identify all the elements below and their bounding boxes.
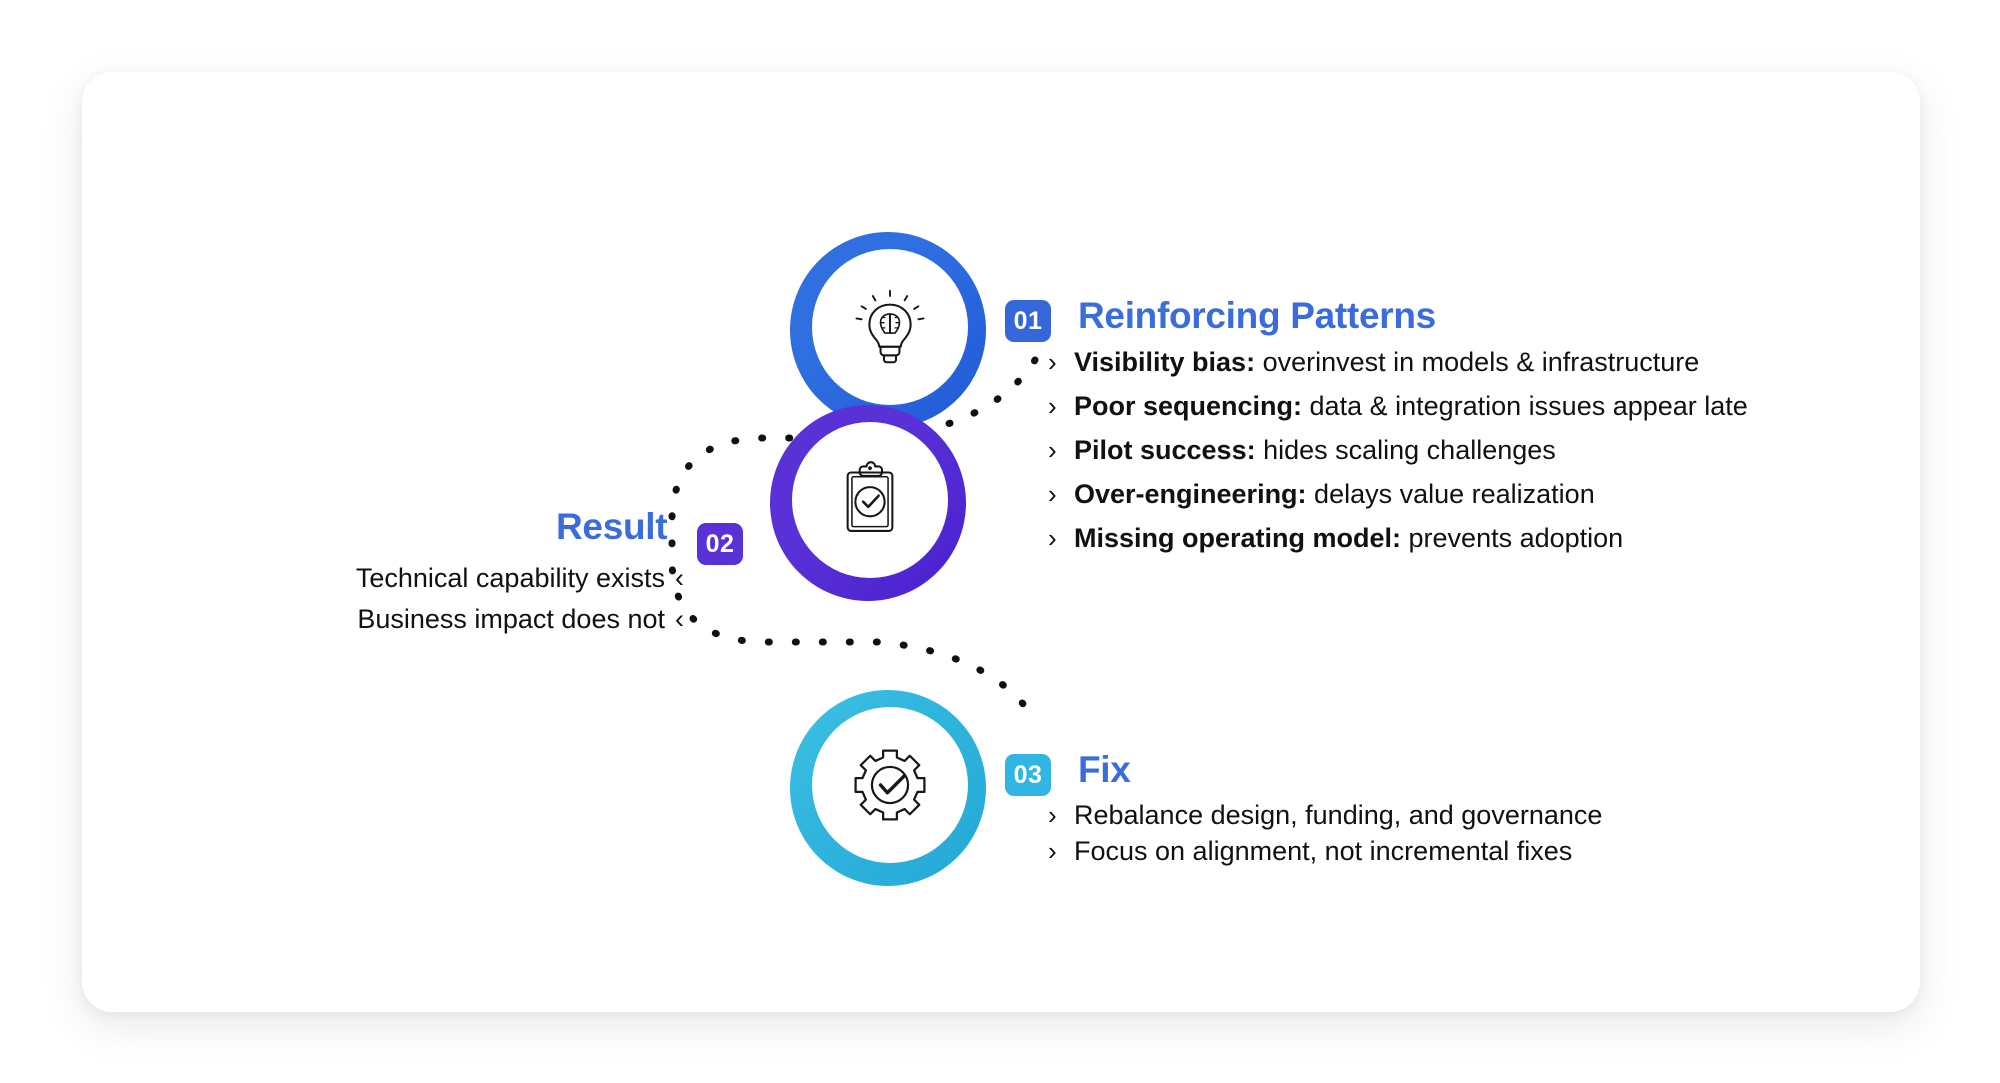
list-item: › Visibility bias: overinvest in models … (1048, 345, 1748, 379)
result-text: Business impact does not (357, 604, 665, 634)
bullet-text: data & integration issues appear late (1302, 391, 1748, 421)
badge-03: 03 (1005, 754, 1051, 796)
chevron-right-icon: › (1048, 521, 1057, 555)
bullet-text: prevents adoption (1401, 523, 1623, 553)
badge-02: 02 (697, 523, 743, 565)
chevron-left-icon: ‹ (675, 604, 684, 634)
chevron-left-icon: ‹ (675, 563, 684, 593)
gear-check-icon (812, 707, 968, 863)
result-text: Technical capability exists (356, 563, 665, 593)
heading-reinforcing-patterns: Reinforcing Patterns (1078, 295, 1436, 337)
bullet-label: Poor sequencing: (1074, 391, 1302, 421)
lightbulb-brain-icon (812, 249, 968, 405)
slide-canvas: 01 Reinforcing Patterns › Visibility bia… (0, 0, 2000, 1083)
chevron-right-icon: › (1048, 798, 1057, 832)
bullet-label: Visibility bias: (1074, 347, 1255, 377)
result-line-list: Technical capability exists‹ Business im… (240, 558, 684, 640)
bullet-text: delays value realization (1307, 479, 1595, 509)
bullet-text: Focus on alignment, not incremental fixe… (1074, 836, 1572, 866)
list-item: › Focus on alignment, not incremental fi… (1048, 834, 1748, 868)
chevron-right-icon: › (1048, 834, 1057, 868)
step-circle-03[interactable] (790, 690, 986, 886)
bullet-text: hides scaling challenges (1256, 435, 1556, 465)
bullet-list-03: › Rebalance design, funding, and governa… (1048, 798, 1748, 870)
list-item: › Rebalance design, funding, and governa… (1048, 798, 1748, 832)
clipboard-check-icon (792, 422, 948, 578)
badge-01: 01 (1005, 300, 1051, 342)
list-item: › Poor sequencing: data & integration is… (1048, 389, 1748, 423)
chevron-right-icon: › (1048, 433, 1057, 467)
bullet-text: overinvest in models & infrastructure (1255, 347, 1699, 377)
chevron-right-icon: › (1048, 477, 1057, 511)
bullet-label: Missing operating model: (1074, 523, 1401, 553)
step-circle-01[interactable] (790, 232, 986, 428)
chevron-right-icon: › (1048, 345, 1057, 379)
list-item: Technical capability exists‹ (240, 558, 684, 599)
bullet-label: Over-engineering: (1074, 479, 1307, 509)
bullet-list-01: › Visibility bias: overinvest in models … (1048, 345, 1748, 565)
heading-result: Result (556, 506, 667, 548)
bullet-label: Pilot success: (1074, 435, 1256, 465)
list-item: Business impact does not‹ (240, 599, 684, 640)
list-item: › Over-engineering: delays value realiza… (1048, 477, 1748, 511)
bullet-text: Rebalance design, funding, and governanc… (1074, 800, 1602, 830)
step-circle-02[interactable] (770, 405, 966, 601)
chevron-right-icon: › (1048, 389, 1057, 423)
heading-fix: Fix (1078, 749, 1131, 791)
list-item: › Pilot success: hides scaling challenge… (1048, 433, 1748, 467)
list-item: › Missing operating model: prevents adop… (1048, 521, 1748, 555)
